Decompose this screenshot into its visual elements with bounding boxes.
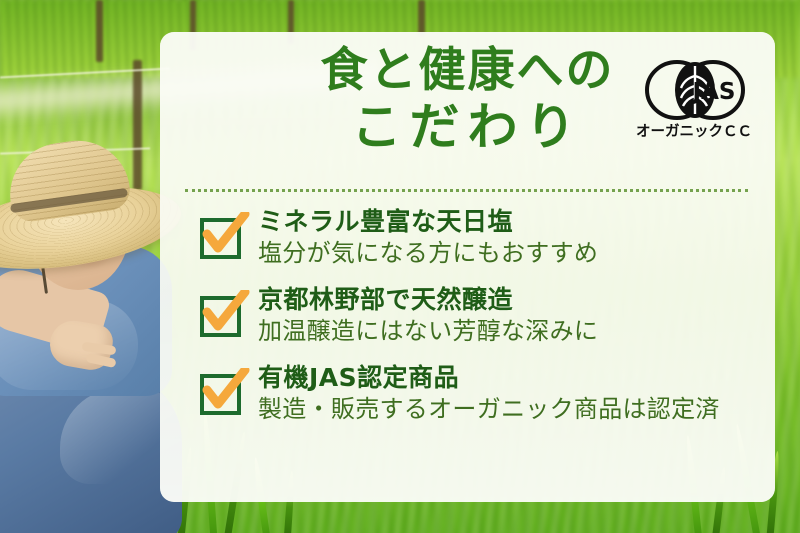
list-item-texts: ミネラル豊富な天日塩 塩分が気になる方にもおすすめ (258, 208, 598, 268)
straw-hat (0, 142, 182, 262)
jas-organic-logo: JAS オーガニックＣＣ (635, 50, 753, 150)
fence-post (418, 0, 425, 36)
list-item: ミネラル豊富な天日塩 塩分が気になる方にもおすすめ (198, 208, 758, 268)
feature-list: ミネラル豊富な天日塩 塩分が気になる方にもおすすめ 京都林野部で天然醸造 加温醸… (198, 208, 758, 441)
fence-post (96, 0, 103, 62)
list-item-sub: 加温醸造にはない芳醇な深みに (258, 317, 598, 346)
content-panel: 食と健康への こだわり JAS (160, 32, 775, 502)
checkbox-checked-icon (198, 212, 242, 256)
dotted-divider (185, 189, 748, 192)
checkbox-checked-icon (198, 290, 242, 334)
list-item: 京都林野部で天然醸造 加温醸造にはない芳醇な深みに (198, 286, 758, 346)
list-item-texts: 京都林野部で天然醸造 加温醸造にはない芳醇な深みに (258, 286, 598, 346)
jas-caption: オーガニックＣＣ (636, 123, 752, 140)
checkbox-checked-icon (198, 368, 242, 412)
jas-mark-text: JAS (691, 79, 736, 105)
promo-banner: 食と健康への こだわり JAS (0, 0, 800, 533)
list-item-heading: 有機JAS認定商品 (258, 364, 720, 392)
list-item-texts: 有機JAS認定商品 製造・販売するオーガニック商品は認定済 (258, 364, 720, 424)
list-item-sub: 塩分が気になる方にもおすすめ (258, 239, 598, 268)
list-item-heading: ミネラル豊富な天日塩 (258, 208, 598, 236)
list-item-sub: 製造・販売するオーガニック商品は認定済 (258, 395, 720, 424)
list-item: 有機JAS認定商品 製造・販売するオーガニック商品は認定済 (198, 364, 758, 424)
list-item-heading: 京都林野部で天然醸造 (258, 286, 598, 314)
